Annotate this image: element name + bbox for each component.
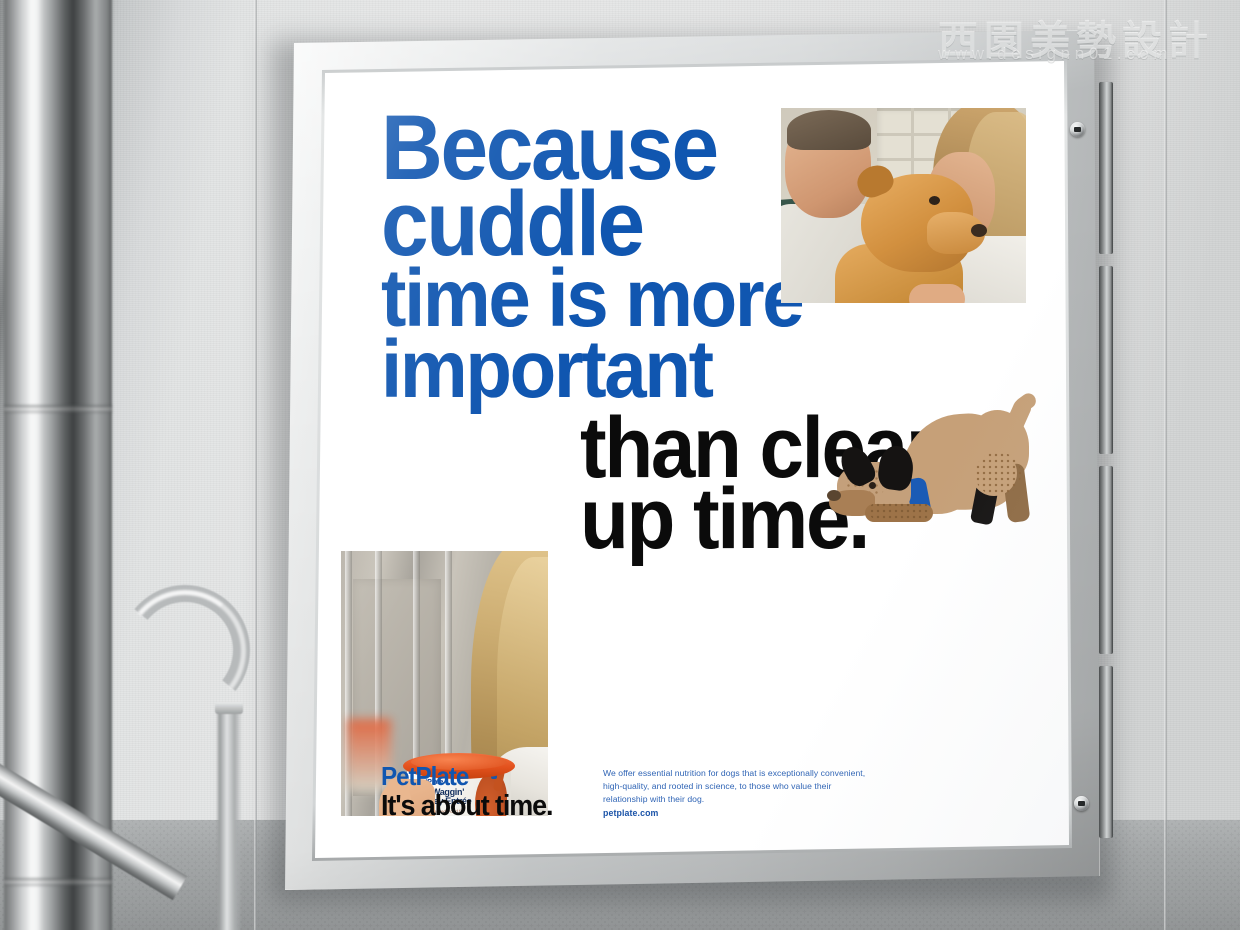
dog-nose	[971, 224, 987, 237]
handrail-post	[216, 708, 242, 930]
couple-hugging-dog-photo	[781, 108, 1026, 303]
pole-joint	[4, 405, 112, 413]
mounting-screw[interactable]	[1074, 796, 1089, 811]
stretching-dog-illustration	[825, 406, 1040, 541]
frame-hinge	[1099, 82, 1113, 254]
handrail-diagonal	[0, 732, 187, 900]
body-copy-text: We offer essential nutrition for dogs th…	[603, 768, 865, 804]
frame-hinge	[1099, 266, 1113, 454]
wall-seam	[1164, 0, 1167, 930]
dog-thigh-speckles	[975, 452, 1021, 496]
headline-line-4: important	[381, 335, 1032, 405]
body-copy-block: We offer essential nutrition for dogs th…	[603, 767, 875, 821]
man-hair	[787, 110, 871, 150]
mounting-screw[interactable]	[1070, 122, 1085, 137]
dog-eye	[869, 482, 876, 489]
website-url[interactable]: petplate.com	[603, 807, 875, 820]
poster-content: Because cuddle time is more important th…	[325, 61, 1069, 858]
hand-holding-dog	[909, 284, 965, 303]
frame-hinge	[1099, 666, 1113, 838]
poster-surface: Because cuddle time is more important th…	[281, 30, 1100, 890]
dog-eye	[929, 196, 940, 205]
dog-nose	[827, 490, 841, 501]
subway-ad-scene: Because cuddle time is more important th…	[0, 0, 1240, 930]
ad-frame[interactable]: Because cuddle time is more important th…	[281, 30, 1100, 890]
frame-hinge	[1099, 466, 1113, 654]
handrail	[0, 560, 300, 930]
dog-paw-speckles	[869, 502, 931, 520]
handrail-post-cap	[215, 702, 243, 714]
